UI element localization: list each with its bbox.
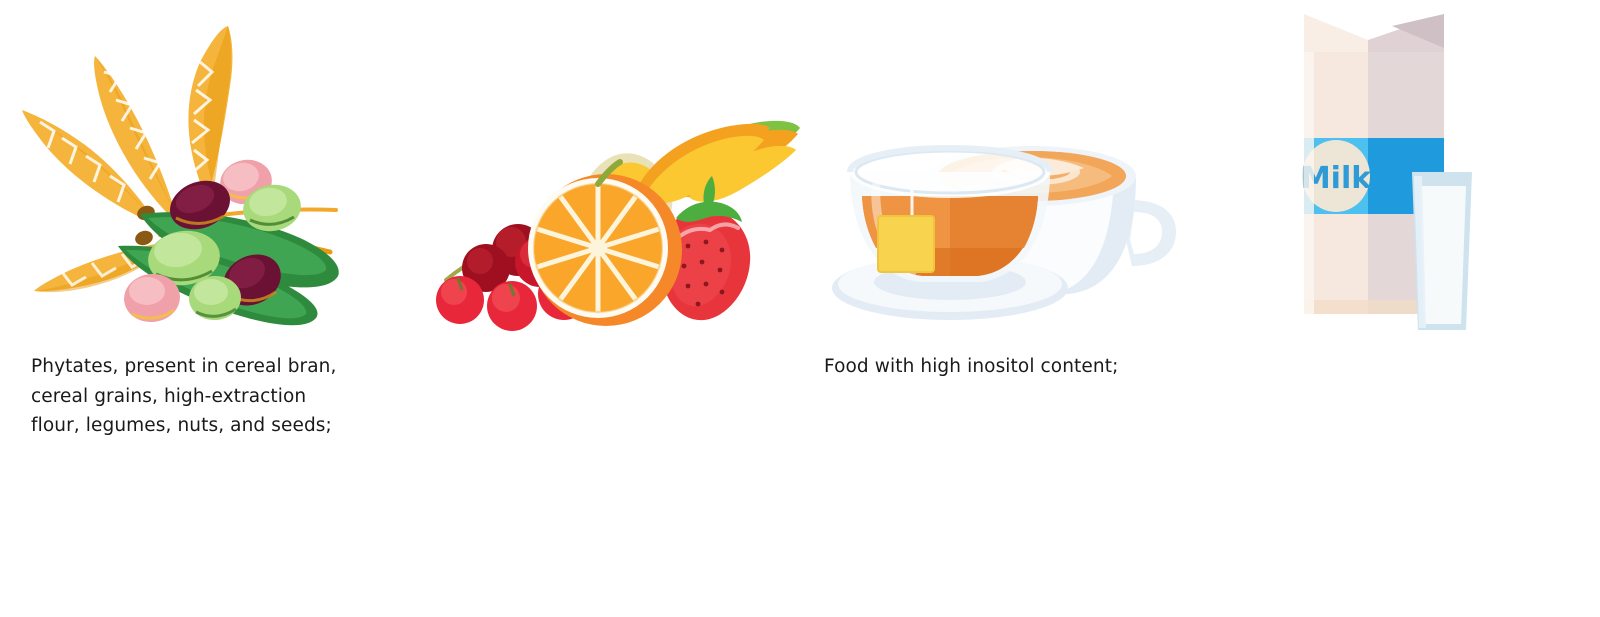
item-column-inositol: Food with high inositol content; bbox=[400, 0, 800, 617]
milk-carton-illustration: Milk bbox=[1200, 0, 1600, 340]
tea-cup bbox=[850, 146, 1050, 282]
fruit-illustration bbox=[400, 0, 800, 340]
item-column-tannins: Iron-binding phenolic compounds (tannins… bbox=[800, 0, 1200, 617]
infographic-board: Phytates, present in cereal bran, cereal… bbox=[0, 0, 1600, 617]
tea-coffee-illustration bbox=[800, 0, 1200, 340]
milk-glass bbox=[1412, 172, 1472, 330]
item-column-calcium: Milk Calcium, particularly from milk and… bbox=[1200, 0, 1600, 617]
caption-phytates: Phytates, present in cereal bran, cereal… bbox=[31, 352, 361, 441]
item-column-phytates: Phytates, present in cereal bran, cereal… bbox=[0, 0, 400, 617]
wheat-legumes-illustration bbox=[0, 0, 400, 340]
